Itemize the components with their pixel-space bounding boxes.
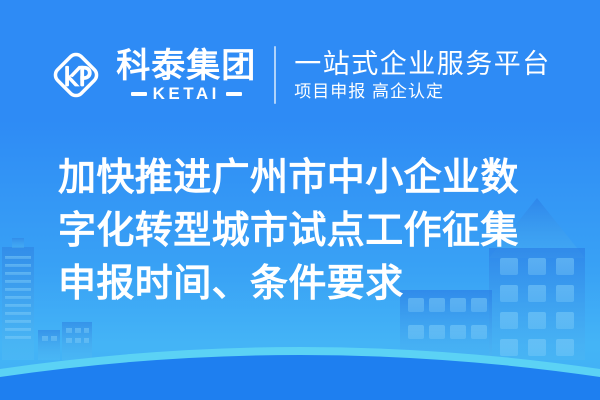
ketai-diamond-kp-logo-icon xyxy=(49,48,103,102)
building-left-small xyxy=(38,322,92,360)
header-tagline: 一站式企业服务平台 项目申报 高企认定 xyxy=(294,49,551,102)
tagline-main: 一站式企业服务平台 xyxy=(294,49,551,79)
page-title: 加快推进广州市中小企业数字化转型城市试点工作征集申报时间、条件要求 xyxy=(58,152,550,311)
brand-logo[interactable]: 科泰集团 KETAI xyxy=(49,48,256,103)
dash-right-icon xyxy=(226,92,242,96)
brand-name-cn: 科泰集团 xyxy=(116,48,256,84)
brand-wordmark: 科泰集团 KETAI xyxy=(116,48,256,103)
brand-name-en-row: KETAI xyxy=(116,85,256,103)
promo-banner: 科泰集团 KETAI 一站式企业服务平台 项目申报 高企认定 加快推进广州市中小… xyxy=(0,0,600,400)
brand-name-en: KETAI xyxy=(153,85,220,103)
bottom-arc-band xyxy=(0,347,600,400)
building-left-tower xyxy=(2,238,34,360)
banner-header: 科泰集团 KETAI 一站式企业服务平台 项目申报 高企认定 xyxy=(0,38,600,112)
tagline-sub: 项目申报 高企认定 xyxy=(294,82,551,102)
header-divider xyxy=(274,46,276,104)
dash-left-icon xyxy=(131,92,147,96)
